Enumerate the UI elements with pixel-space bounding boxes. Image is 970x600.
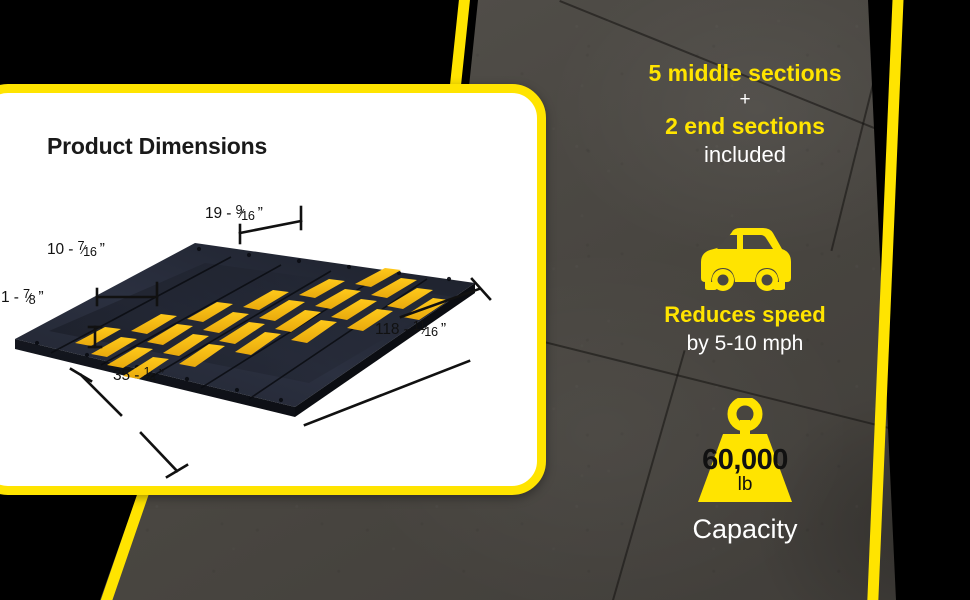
product-dimensions-card: Product Dimensions bbox=[0, 84, 546, 495]
infographic-banner: Product Dimensions bbox=[0, 0, 970, 600]
feature-sections-included: 5 middle sections + 2 end sections inclu… bbox=[595, 58, 895, 169]
sections-middle-text: 5 middle sections bbox=[595, 58, 895, 88]
dimension-label-height: 1 - 7⁄8” bbox=[1, 289, 44, 307]
capacity-label: Capacity bbox=[595, 513, 895, 545]
dimension-label-section-length: 19 - 9⁄16” bbox=[205, 205, 263, 223]
dimension-label-width-top: 10 - 7⁄16” bbox=[47, 241, 105, 259]
car-icon bbox=[691, 222, 799, 292]
dimension-label-overall-length: 118 - 11⁄16” bbox=[375, 321, 446, 339]
product-image bbox=[9, 171, 546, 489]
speed-range-text: by 5-10 mph bbox=[595, 330, 895, 357]
sections-plus-sign: + bbox=[595, 88, 895, 111]
sections-included-text: included bbox=[595, 141, 895, 169]
capacity-unit: lb bbox=[675, 474, 815, 496]
reduces-speed-text: Reduces speed bbox=[595, 300, 895, 330]
feature-reduces-speed: Reduces speed by 5-10 mph bbox=[595, 222, 895, 357]
sections-end-text: 2 end sections bbox=[595, 111, 895, 141]
page-title: Product Dimensions bbox=[47, 133, 267, 160]
feature-weight-capacity: 60,000 lb Capacity bbox=[595, 398, 895, 545]
dimension-label-depth: 35 - 1⁄4” bbox=[113, 367, 164, 385]
capacity-value: 60,000 bbox=[675, 444, 815, 477]
